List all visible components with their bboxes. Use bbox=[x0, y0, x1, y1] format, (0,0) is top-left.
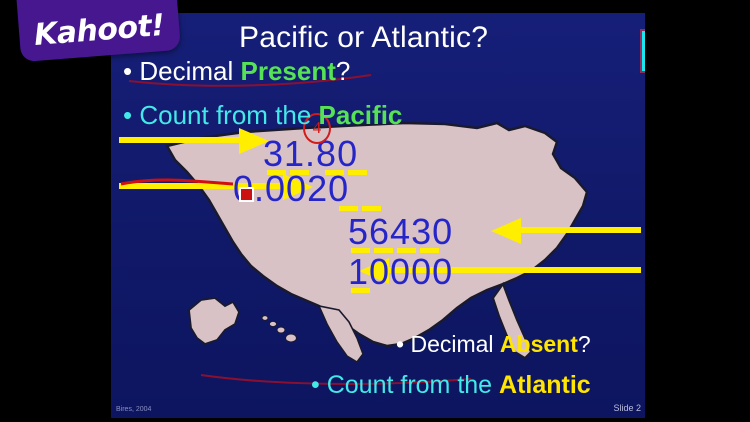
bullet-decimal-present: • Decimal Present? bbox=[123, 56, 350, 87]
bullet-decimal-absent: • Decimal Absent? bbox=[396, 331, 591, 358]
bullet-keyword: Pacific bbox=[319, 100, 403, 130]
underline-10000-d1 bbox=[351, 288, 370, 293]
bullet-marker: • bbox=[123, 56, 132, 86]
bullet-prefix: Count from the bbox=[139, 100, 318, 130]
slide-credit: Bires, 2004 bbox=[116, 406, 151, 413]
underline-3180-d4 bbox=[348, 170, 367, 175]
kahoot-logo-text: Kahoot! bbox=[18, 7, 180, 54]
slide-number: Slide 2 bbox=[613, 403, 641, 413]
bullet-prefix: Decimal bbox=[410, 331, 499, 357]
bullet-keyword: Absent bbox=[500, 331, 578, 357]
bullet-prefix: Decimal bbox=[139, 56, 240, 86]
slide-footer: Bires, 2004 Slide 2 bbox=[111, 394, 645, 418]
example-value-56430: 56430 bbox=[348, 211, 453, 253]
slide-title: Pacific or Atlantic? bbox=[239, 21, 488, 55]
screen-root: 31.80 0.0020 56430 10000 4 Pacific or At… bbox=[0, 0, 750, 422]
bullet-keyword: Present bbox=[240, 56, 335, 86]
bullet-count-pacific: • Count from the Pacific bbox=[123, 100, 402, 131]
bullet-suffix: ? bbox=[578, 331, 591, 357]
arrow-atlantic-1-head bbox=[491, 218, 521, 244]
map-alaska bbox=[189, 298, 239, 344]
presentation-slide: 31.80 0.0020 56430 10000 4 Pacific or At… bbox=[111, 13, 645, 418]
bullet-marker: • bbox=[396, 331, 404, 357]
example-value-10000: 10000 bbox=[348, 251, 453, 293]
red-marker-dot bbox=[239, 187, 254, 202]
map-hawaii bbox=[262, 316, 297, 342]
letterbox-left bbox=[0, 0, 111, 422]
bullet-marker: • bbox=[123, 100, 132, 130]
bullet-suffix: ? bbox=[336, 56, 350, 86]
letterbox-right bbox=[645, 0, 750, 422]
